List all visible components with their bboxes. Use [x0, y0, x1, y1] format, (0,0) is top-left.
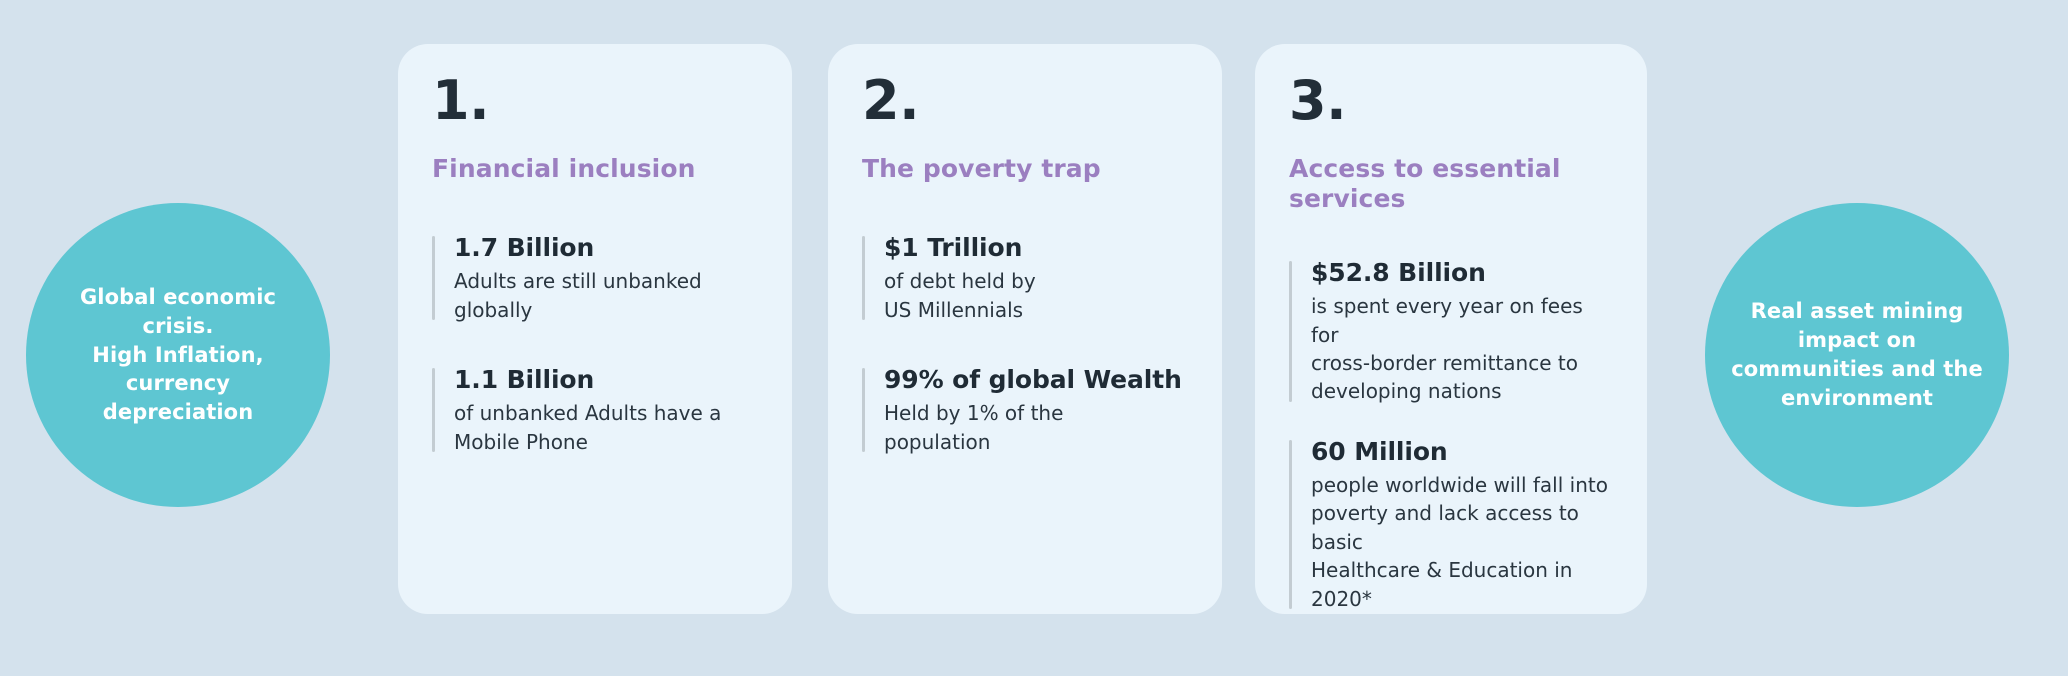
- stat-item: $1 Trillion of debt held by US Millennia…: [862, 232, 1188, 324]
- stat-list: $52.8 Billion is spent every year on fee…: [1289, 257, 1613, 613]
- stat-item: 99% of global Wealth Held by 1% of the p…: [862, 364, 1188, 456]
- stat-item: 1.7 Billion Adults are still unbanked gl…: [432, 232, 758, 324]
- stat-rule-icon: [862, 236, 865, 320]
- stat-body: of unbanked Adults have a Mobile Phone: [454, 399, 758, 456]
- stat-rule-icon: [1289, 261, 1292, 402]
- stat-headline: 99% of global Wealth: [884, 364, 1188, 395]
- infographic-stage: Global economic crisis. High Inflation, …: [0, 0, 2068, 676]
- stat-list: $1 Trillion of debt held by US Millennia…: [862, 232, 1188, 456]
- card-title: The poverty trap: [862, 154, 1188, 184]
- card-financial-inclusion: 1. Financial inclusion 1.7 Billion Adult…: [398, 44, 792, 614]
- stat-body: of debt held by US Millennials: [884, 267, 1188, 324]
- card-title: Financial inclusion: [432, 154, 758, 184]
- stat-body: people worldwide will fall into poverty …: [1311, 471, 1613, 613]
- circle-right-text: Real asset mining impact on communities …: [1731, 297, 1983, 413]
- stat-item: 60 Million people worldwide will fall in…: [1289, 436, 1613, 613]
- stat-rule-icon: [432, 368, 435, 452]
- stat-rule-icon: [432, 236, 435, 320]
- card-number: 3.: [1289, 74, 1613, 128]
- stat-headline: $52.8 Billion: [1311, 257, 1613, 288]
- stat-body: is spent every year on fees for cross-bo…: [1311, 292, 1613, 406]
- stat-body: Held by 1% of the population: [884, 399, 1188, 456]
- circle-real-asset-mining-impact: Real asset mining impact on communities …: [1705, 203, 2009, 507]
- stat-rule-icon: [1289, 440, 1292, 609]
- stat-headline: 1.1 Billion: [454, 364, 758, 395]
- stat-rule-icon: [862, 368, 865, 452]
- stat-body: Adults are still unbanked globally: [454, 267, 758, 324]
- card-number: 2.: [862, 74, 1188, 128]
- stat-headline: $1 Trillion: [884, 232, 1188, 263]
- card-access-essential-services: 3. Access to essential services $52.8 Bi…: [1255, 44, 1647, 614]
- stat-headline: 60 Million: [1311, 436, 1613, 467]
- card-title: Access to essential services: [1289, 154, 1613, 213]
- card-number: 1.: [432, 74, 758, 128]
- card-poverty-trap: 2. The poverty trap $1 Trillion of debt …: [828, 44, 1222, 614]
- stat-item: $52.8 Billion is spent every year on fee…: [1289, 257, 1613, 406]
- circle-global-economic-crisis: Global economic crisis. High Inflation, …: [26, 203, 330, 507]
- circle-left-text: Global economic crisis. High Inflation, …: [80, 283, 276, 428]
- stat-list: 1.7 Billion Adults are still unbanked gl…: [432, 232, 758, 456]
- stat-item: 1.1 Billion of unbanked Adults have a Mo…: [432, 364, 758, 456]
- stat-headline: 1.7 Billion: [454, 232, 758, 263]
